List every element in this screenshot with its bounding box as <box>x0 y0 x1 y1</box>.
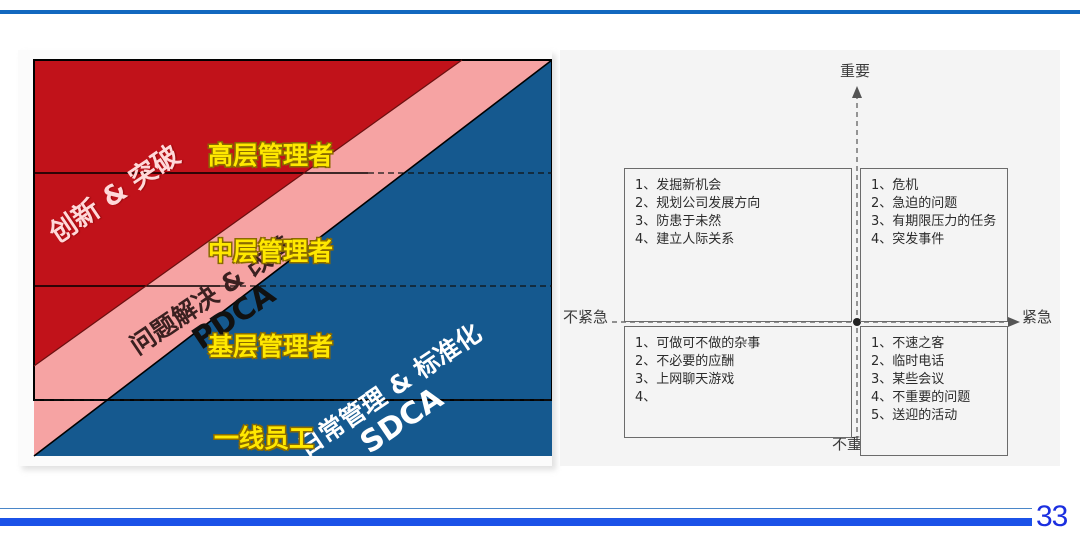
slide-canvas: 创新 & 突破 问题解决 & 改善 PDCA 日常管理 & 标准化 SDCA 高… <box>0 0 1080 537</box>
list-item: 4、突发事件 <box>871 231 1007 249</box>
axis-label-important: 重要 <box>840 60 870 81</box>
list-item: 2、不必要的应酬 <box>635 353 851 371</box>
page-number: 33 <box>1036 500 1067 534</box>
list-item: 2、急迫的问题 <box>871 195 1007 213</box>
list-item: 1、可做可不做的杂事 <box>635 335 851 353</box>
role-label-top-management: 高层管理者 <box>208 136 333 172</box>
quadrant-important-not-urgent[interactable]: 1、发掘新机会 2、规划公司发展方向 3、防患于未然 4、建立人际关系 <box>624 168 852 322</box>
bottom-thin-rule <box>0 508 1032 509</box>
role-label-middle-management: 中层管理者 <box>208 232 333 268</box>
management-level-diagram: 创新 & 突破 问题解决 & 改善 PDCA 日常管理 & 标准化 SDCA 高… <box>18 50 552 466</box>
quadrant-important-urgent[interactable]: 1、危机 2、急迫的问题 3、有期限压力的任务 4、突发事件 <box>860 168 1008 322</box>
list-item: 4、 <box>635 389 851 407</box>
eisenhower-matrix: 重要 不重要 不紧急 紧急 1、发掘新机会 2、规划公司发展方向 3、防患于未然… <box>560 50 1060 466</box>
list-item: 2、规划公司发展方向 <box>635 195 851 213</box>
role-label-frontline-staff: 一线员工 <box>214 419 314 455</box>
list-item: 3、防患于未然 <box>635 213 851 231</box>
top-accent-rule <box>0 10 1080 14</box>
quadrant-not-important-urgent[interactable]: 1、不速之客 2、临时电话 3、某些会议 4、不重要的问题 5、送迎的活动 <box>860 326 1008 456</box>
list-item: 3、有期限压力的任务 <box>871 213 1007 231</box>
list-item: 3、某些会议 <box>871 371 1007 389</box>
list-item: 5、送迎的活动 <box>871 407 1007 425</box>
bottom-thick-rule <box>0 518 1032 526</box>
quadrant-not-important-not-urgent[interactable]: 1、可做可不做的杂事 2、不必要的应酬 3、上网聊天游戏 4、 <box>624 326 852 438</box>
list-item: 4、建立人际关系 <box>635 231 851 249</box>
list-item: 3、上网聊天游戏 <box>635 371 851 389</box>
axis-label-not-urgent: 不紧急 <box>563 306 608 327</box>
axis-label-urgent: 紧急 <box>1022 306 1052 327</box>
list-item: 1、不速之客 <box>871 335 1007 353</box>
role-label-lower-management: 基层管理者 <box>208 327 333 363</box>
axis-arrow-right <box>1008 317 1020 327</box>
list-item: 1、发掘新机会 <box>635 177 851 195</box>
list-item: 4、不重要的问题 <box>871 389 1007 407</box>
axis-arrow-up <box>852 86 862 98</box>
list-item: 1、危机 <box>871 177 1007 195</box>
list-item: 2、临时电话 <box>871 353 1007 371</box>
